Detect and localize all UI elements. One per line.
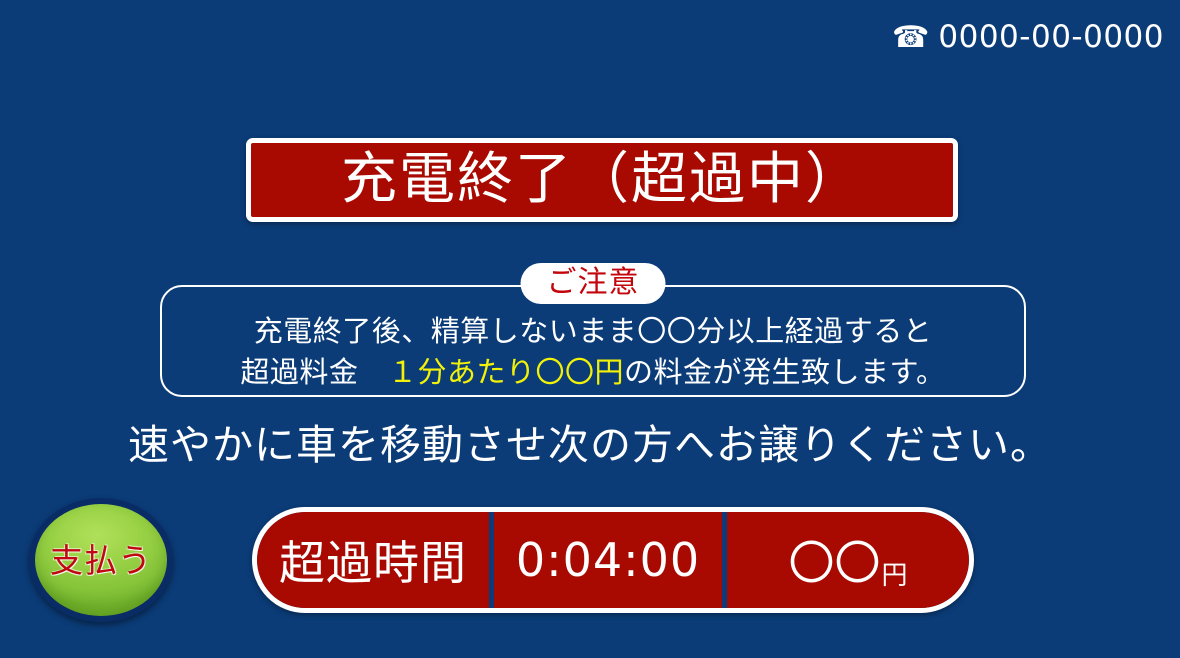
overtime-amount-cell: 〇〇 円 [727,512,969,608]
status-banner: 充電終了（超過中） [246,138,958,222]
notice-rate-highlight: １分あたり〇〇円 [388,355,624,389]
overtime-time-cell: 0:04:00 [494,512,722,608]
overtime-amount-unit: 円 [881,555,907,592]
notice-line-2: 超過料金 １分あたり〇〇円の料金が発生致します。 [162,352,1024,393]
charging-status-screen: ☎ 0000-00-0000 充電終了（超過中） ご注意 充電終了後、精算しない… [0,0,1180,658]
notice-line-2-suffix: の料金が発生致します。 [624,355,946,389]
notice-box: ご注意 充電終了後、精算しないまま〇〇分以上経過すると 超過料金 １分あたり〇〇… [160,285,1026,397]
telephone-icon: ☎ [892,23,929,53]
pay-button[interactable]: 支払う [29,498,173,622]
overtime-summary-bar: 超過時間 0:04:00 〇〇 円 [252,507,974,613]
pay-button-label: 支払う [50,544,152,577]
overtime-amount-value: 〇〇 [788,527,880,593]
support-phone: ☎ 0000-00-0000 [892,22,1164,53]
notice-badge: ご注意 [521,263,666,304]
instruction-text: 速やかに車を移動させ次の方へお譲りください。 [0,421,1180,470]
notice-line-2-prefix: 超過料金 [240,355,388,389]
notice-text: 充電終了後、精算しないまま〇〇分以上経過すると 超過料金 １分あたり〇〇円の料金… [162,311,1024,393]
overtime-label-cell: 超過時間 [257,512,489,608]
notice-line-1: 充電終了後、精算しないまま〇〇分以上経過すると [162,311,1024,352]
status-banner-text: 充電終了（超過中） [341,152,863,208]
phone-number-text: 0000-00-0000 [938,22,1164,53]
